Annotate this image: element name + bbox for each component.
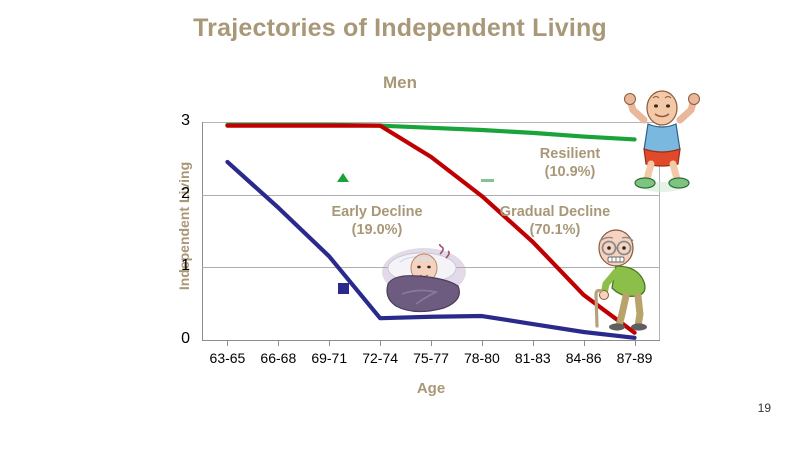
page-number: 19 <box>758 401 771 415</box>
x-axis-title: Age <box>202 380 660 397</box>
x-tick-mark <box>278 340 279 346</box>
x-tick-mark <box>227 340 228 346</box>
slide-canvas: Trajectories of Independent Living Men I… <box>0 0 800 450</box>
x-tick-mark <box>635 340 636 346</box>
bedridden-senior-icon <box>366 244 482 316</box>
green-triangle-marker <box>337 173 349 182</box>
y-tick-0: 0 <box>162 330 190 348</box>
annotation-early-decline-percent: (19.0%) <box>312 222 442 240</box>
x-tick-mark <box>380 340 381 346</box>
x-tick-mark <box>431 340 432 346</box>
y-tick-2: 2 <box>162 185 190 203</box>
blue-square-marker <box>338 283 349 294</box>
x-tick-mark <box>329 340 330 346</box>
x-tick-mark <box>482 340 483 346</box>
annotation-resilient-percent: (10.9%) <box>510 164 630 182</box>
annotation-gradual-decline-label: Gradual Decline <box>500 204 610 220</box>
x-tick-label-87-89: 87-89 <box>605 350 665 366</box>
y-tick-3: 3 <box>162 112 190 130</box>
x-tick-mark <box>584 340 585 346</box>
annotation-early-decline-label: Early Decline <box>331 204 422 220</box>
y-tick-1: 1 <box>162 257 190 275</box>
green-dash-marker <box>481 179 494 182</box>
flexing-senior-man-icon <box>620 86 704 194</box>
annotation-resilient: Resilient (10.9%) <box>510 146 630 181</box>
annotation-resilient-label: Resilient <box>540 146 600 162</box>
senior-man-with-cane-icon <box>586 228 666 332</box>
page-title: Trajectories of Independent Living <box>0 14 800 43</box>
x-tick-mark <box>533 340 534 346</box>
annotation-early-decline: Early Decline (19.0%) <box>312 204 442 239</box>
y-axis-title-wrap: Independent Living <box>150 122 151 340</box>
y-axis-ticks: 3 2 1 0 <box>152 122 190 340</box>
